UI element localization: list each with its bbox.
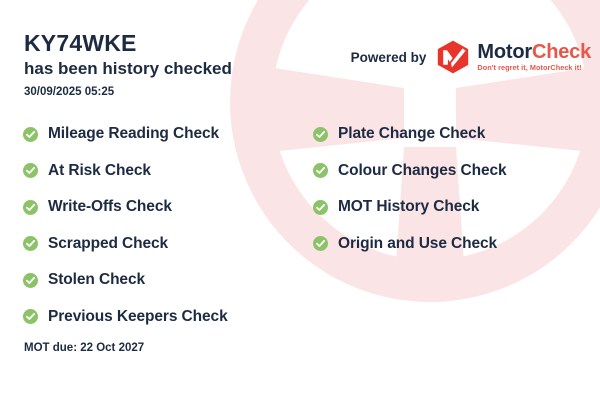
wordmark-text: MotorCheck bbox=[477, 42, 591, 62]
page-title-registration: KY74WKE bbox=[24, 30, 232, 57]
check-item: Plate Change Check bbox=[313, 116, 593, 153]
check-circle-icon bbox=[23, 200, 38, 215]
check-circle-icon bbox=[313, 236, 328, 251]
check-circle-icon bbox=[23, 273, 38, 288]
check-item-label: Stolen Check bbox=[48, 271, 145, 289]
check-item: Origin and Use Check bbox=[313, 226, 593, 263]
motorcheck-hexagon-logo-icon bbox=[436, 40, 470, 74]
check-item-label: At Risk Check bbox=[48, 162, 151, 180]
checks-column-left: Mileage Reading Check At Risk Check Writ… bbox=[23, 116, 303, 335]
check-item: At Risk Check bbox=[23, 153, 303, 190]
powered-by-label: Powered by bbox=[351, 50, 427, 65]
check-item: Scrapped Check bbox=[23, 226, 303, 263]
check-item: Previous Keepers Check bbox=[23, 299, 303, 336]
check-timestamp: 30/09/2025 05:25 bbox=[24, 84, 232, 100]
page-subtitle: has been history checked bbox=[24, 58, 232, 80]
powered-by-branding: Powered by MotorCheck Don't regret it, M… bbox=[351, 40, 591, 74]
check-circle-icon bbox=[313, 127, 328, 142]
check-item-label: Write-Offs Check bbox=[48, 198, 172, 216]
mot-due-text: MOT due: 22 Oct 2027 bbox=[24, 342, 144, 354]
check-item-label: MOT History Check bbox=[338, 198, 479, 216]
check-item: Mileage Reading Check bbox=[23, 116, 303, 153]
check-item-label: Plate Change Check bbox=[338, 125, 485, 143]
check-item-label: Colour Changes Check bbox=[338, 162, 507, 180]
motorcheck-wordmark: MotorCheck Don't regret it, MotorCheck i… bbox=[477, 42, 591, 73]
check-item-label: Origin and Use Check bbox=[338, 235, 497, 253]
check-item: Colour Changes Check bbox=[313, 153, 593, 190]
check-circle-icon bbox=[313, 200, 328, 215]
check-circle-icon bbox=[23, 236, 38, 251]
brand-tagline: Don't regret it, MotorCheck it! bbox=[477, 63, 591, 73]
check-circle-icon bbox=[23, 309, 38, 324]
check-item-label: Previous Keepers Check bbox=[48, 308, 228, 326]
check-item: Stolen Check bbox=[23, 262, 303, 299]
check-circle-icon bbox=[313, 163, 328, 178]
check-circle-icon bbox=[23, 127, 38, 142]
wordmark-check: Check bbox=[532, 41, 591, 63]
header: KY74WKE has been history checked 30/09/2… bbox=[24, 30, 232, 100]
checks-column-right: Plate Change Check Colour Changes Check … bbox=[313, 116, 593, 262]
check-circle-icon bbox=[23, 163, 38, 178]
check-item-label: Scrapped Check bbox=[48, 235, 168, 253]
vehicle-history-check-card: KY74WKE has been history checked 30/09/2… bbox=[0, 0, 600, 400]
check-item: Write-Offs Check bbox=[23, 189, 303, 226]
check-item-label: Mileage Reading Check bbox=[48, 125, 219, 143]
check-item: MOT History Check bbox=[313, 189, 593, 226]
wordmark-motor: Motor bbox=[477, 41, 532, 63]
